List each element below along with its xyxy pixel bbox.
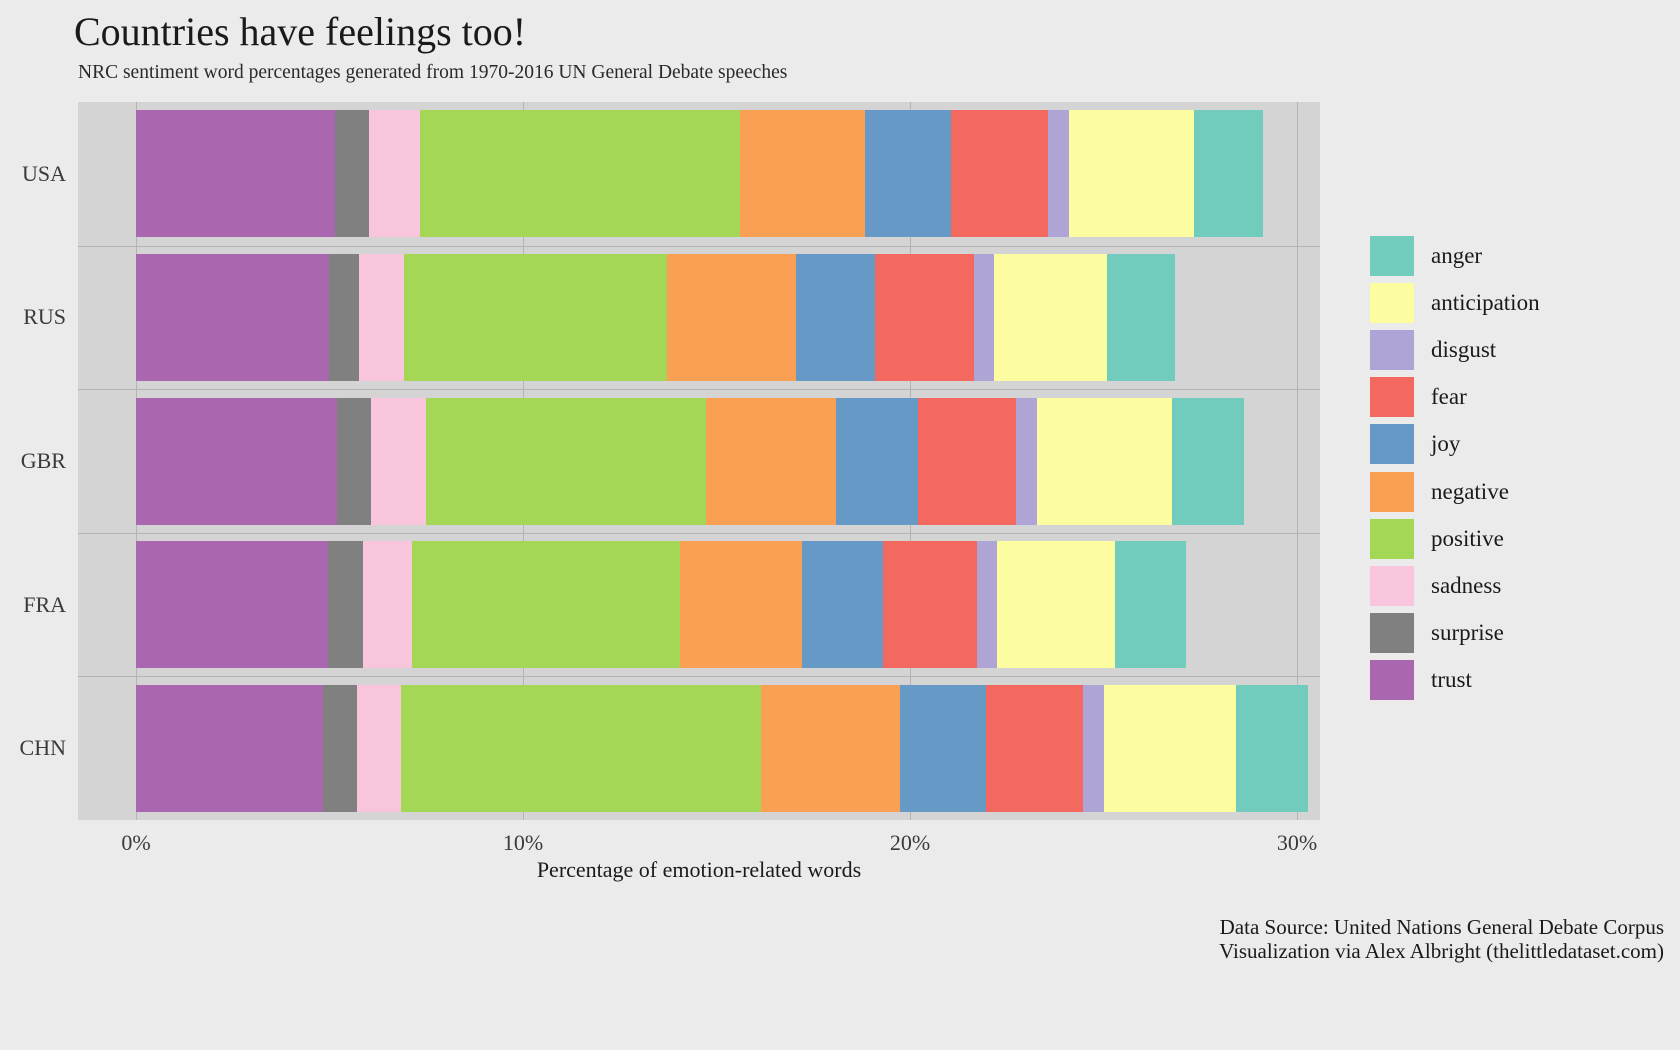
stacked-bar[interactable] — [136, 398, 1244, 525]
legend-label: surprise — [1431, 620, 1504, 646]
legend-label: trust — [1431, 667, 1472, 693]
legend-label: positive — [1431, 526, 1504, 552]
x-tick-label: 10% — [503, 830, 543, 856]
legend-label: fear — [1431, 384, 1467, 410]
y-tick-label-fra: FRA — [23, 592, 66, 618]
bar-segment-anger[interactable] — [1115, 541, 1186, 668]
bar-segment-joy[interactable] — [900, 685, 986, 812]
bar-segment-negative[interactable] — [740, 110, 865, 237]
bar-segment-anticipation[interactable] — [1069, 110, 1194, 237]
caption-credit: Visualization via Alex Albright (thelitt… — [1219, 939, 1664, 964]
bar-segment-sadness[interactable] — [371, 398, 426, 525]
x-tick-label: 20% — [890, 830, 930, 856]
bar-segment-positive[interactable] — [404, 254, 667, 381]
bar-segment-positive[interactable] — [412, 541, 680, 668]
bar-segment-sadness[interactable] — [357, 685, 401, 812]
page-title: Countries have feelings too! — [74, 8, 526, 55]
y-tick-label-gbr: GBR — [21, 448, 66, 474]
bar-segment-anger[interactable] — [1107, 254, 1176, 381]
legend-item-positive[interactable]: positive — [1368, 515, 1598, 562]
bar-segment-positive[interactable] — [426, 398, 706, 525]
x-tick-label: 30% — [1277, 830, 1317, 856]
bar-segment-negative[interactable] — [761, 685, 900, 812]
legend-swatch-trust — [1368, 658, 1416, 702]
bar-segment-fear[interactable] — [986, 685, 1083, 812]
legend-swatch-sadness — [1368, 564, 1416, 608]
y-gridline — [78, 246, 1320, 247]
y-tick-label-chn: CHN — [20, 735, 66, 761]
bar-segment-fear[interactable] — [883, 541, 977, 668]
bar-segment-surprise[interactable] — [328, 541, 363, 668]
bar-segment-negative[interactable] — [706, 398, 836, 525]
stacked-bar[interactable] — [136, 541, 1186, 668]
bar-segment-sadness[interactable] — [359, 254, 404, 381]
bar-segment-trust[interactable] — [136, 110, 335, 237]
bar-segment-fear[interactable] — [918, 398, 1016, 525]
y-tick-label-usa: USA — [22, 161, 66, 187]
bar-segment-trust[interactable] — [136, 541, 328, 668]
bar-segment-surprise[interactable] — [335, 110, 369, 237]
legend-label: anger — [1431, 243, 1482, 269]
legend-item-anticipation[interactable]: anticipation — [1368, 279, 1598, 326]
bar-segment-fear[interactable] — [951, 110, 1048, 237]
legend-item-negative[interactable]: negative — [1368, 468, 1598, 515]
bar-segment-sadness[interactable] — [369, 110, 420, 237]
legend-label: negative — [1431, 479, 1509, 505]
bar-segment-anger[interactable] — [1172, 398, 1244, 525]
legend-item-disgust[interactable]: disgust — [1368, 326, 1598, 373]
legend-swatch-negative — [1368, 470, 1416, 514]
legend-swatch-joy — [1368, 422, 1416, 466]
legend-swatch-fear — [1368, 375, 1416, 419]
stacked-bar[interactable] — [136, 254, 1175, 381]
legend-item-surprise[interactable]: surprise — [1368, 610, 1598, 657]
bar-segment-joy[interactable] — [865, 110, 950, 237]
chart-page: Countries have feelings too! NRC sentime… — [0, 0, 1680, 1050]
bar-segment-disgust[interactable] — [974, 254, 994, 381]
legend-item-fear[interactable]: fear — [1368, 374, 1598, 421]
stacked-bar[interactable] — [136, 110, 1263, 237]
legend-item-sadness[interactable]: sadness — [1368, 562, 1598, 609]
bar-segment-trust[interactable] — [136, 685, 323, 812]
y-gridline — [78, 389, 1320, 390]
page-subtitle: NRC sentiment word percentages generated… — [78, 62, 787, 84]
bar-segment-joy[interactable] — [802, 541, 883, 668]
plot-area — [78, 102, 1320, 820]
legend-swatch-surprise — [1368, 611, 1416, 655]
legend-swatch-disgust — [1368, 328, 1416, 372]
y-gridline — [78, 533, 1320, 534]
bar-segment-surprise[interactable] — [337, 398, 371, 525]
legend-swatch-positive — [1368, 517, 1416, 561]
bar-segment-trust[interactable] — [136, 254, 329, 381]
bar-segment-trust[interactable] — [136, 398, 337, 525]
bar-segment-anticipation[interactable] — [1037, 398, 1172, 525]
legend-item-trust[interactable]: trust — [1368, 657, 1598, 704]
bar-segment-surprise[interactable] — [323, 685, 357, 812]
legend-item-joy[interactable]: joy — [1368, 421, 1598, 468]
bar-segment-disgust[interactable] — [977, 541, 997, 668]
legend-label: sadness — [1431, 573, 1501, 599]
legend-label: disgust — [1431, 337, 1496, 363]
legend-swatch-anticipation — [1368, 281, 1416, 325]
stacked-bar[interactable] — [136, 685, 1308, 812]
bar-segment-anticipation[interactable] — [994, 254, 1106, 381]
bar-segment-negative[interactable] — [680, 541, 802, 668]
bar-segment-disgust[interactable] — [1048, 110, 1069, 237]
bar-segment-sadness[interactable] — [363, 541, 412, 668]
bar-segment-surprise[interactable] — [329, 254, 359, 381]
legend: angeranticipationdisgustfearjoynegativep… — [1368, 232, 1598, 704]
bar-segment-positive[interactable] — [401, 685, 761, 812]
bar-segment-anticipation[interactable] — [997, 541, 1115, 668]
x-axis-title: Percentage of emotion-related words — [78, 857, 1320, 883]
bar-segment-positive[interactable] — [420, 110, 740, 237]
legend-item-anger[interactable]: anger — [1368, 232, 1598, 279]
x-tick-label: 0% — [121, 830, 150, 856]
bar-segment-joy[interactable] — [836, 398, 919, 525]
bar-segment-negative[interactable] — [667, 254, 796, 381]
y-tick-label-rus: RUS — [23, 304, 66, 330]
bar-segment-anticipation[interactable] — [1104, 685, 1236, 812]
bar-segment-fear[interactable] — [875, 254, 974, 381]
legend-label: joy — [1431, 431, 1460, 457]
legend-label: anticipation — [1431, 290, 1540, 316]
plot-panel — [78, 102, 1320, 820]
bar-segment-disgust[interactable] — [1016, 398, 1037, 525]
bar-segment-disgust[interactable] — [1083, 685, 1104, 812]
caption-source: Data Source: United Nations General Deba… — [1220, 915, 1664, 940]
bar-segment-anger[interactable] — [1194, 110, 1263, 237]
legend-swatch-anger — [1368, 234, 1416, 278]
bar-segment-anger[interactable] — [1236, 685, 1308, 812]
y-gridline — [78, 676, 1320, 677]
bar-segment-joy[interactable] — [796, 254, 875, 381]
